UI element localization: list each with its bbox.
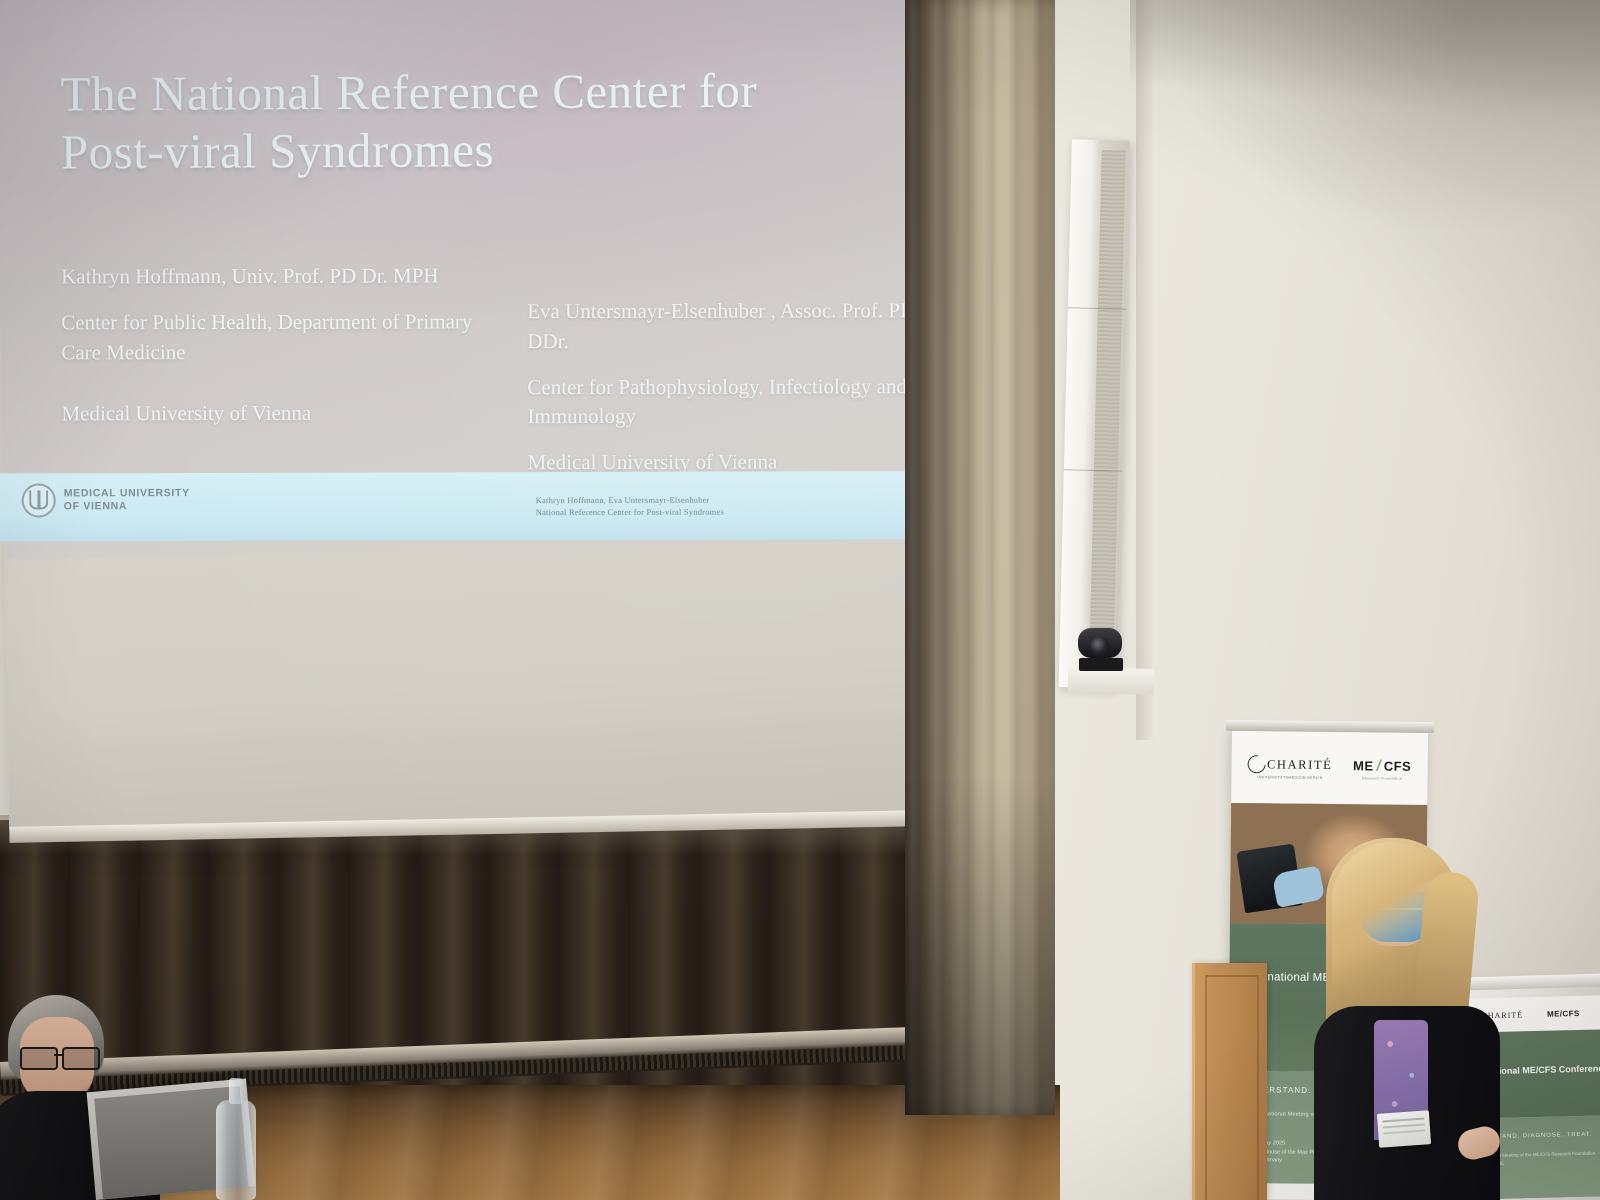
meduni-logo-text: MEDICAL UNIVERSITY OF VIENNA (64, 487, 190, 514)
speaker-at-podium (1308, 828, 1508, 1200)
lectern-mecfs-wordmark: ME/CFS (1547, 1008, 1580, 1018)
meduni-logo-icon (22, 483, 56, 517)
presentation-slide: The National Reference Center for Post-v… (0, 0, 946, 559)
glasses-left-lens (20, 1047, 58, 1070)
wooden-door-panel (1192, 963, 1267, 1200)
drape-shadow (905, 775, 1055, 1115)
mecfs-subtitle: Research Foundation (1362, 776, 1402, 780)
charite-ring-icon (1244, 752, 1269, 777)
charite-subtitle: UNIVERSITÄTSMEDIZIN BERLIN (1257, 775, 1322, 780)
door-inset (1205, 975, 1259, 1200)
side-drape (905, 0, 1055, 1115)
camera-head (1078, 628, 1122, 658)
meduni-logo-line2: OF VIENNA (64, 500, 190, 513)
meduni-vienna-logo: MEDICAL UNIVERSITY OF VIENNA (22, 483, 190, 517)
camera-mount (1079, 658, 1123, 671)
bottle-body (216, 1100, 256, 1200)
mecfs-logo: ME / CFS Research Foundation (1353, 757, 1411, 781)
water-bottle (214, 1078, 258, 1200)
footer-credit-line2: National Reference Center for Post-viral… (536, 506, 724, 519)
footer-credit-line1: Kathryn Hoffmann, Eva Untersmayr-Elsenhu… (536, 494, 724, 507)
screen-unlit-area (4, 542, 951, 829)
slide-footer-band: MEDICAL UNIVERSITY OF VIENNA Kathryn Hof… (0, 471, 942, 541)
slide-left-column: Kathryn Hoffmann, Univ. Prof. PD Dr. MPH… (61, 261, 513, 445)
mecfs-slash-icon: / (1375, 757, 1383, 774)
right-author: Eva Untersmayr-Elsenhuber , Assoc. Prof.… (527, 296, 917, 357)
glasses-right-lens (62, 1047, 100, 1070)
camera-lens-icon (1090, 637, 1110, 657)
wall-corner (1136, 0, 1158, 740)
eyeglasses-icon (18, 1047, 102, 1067)
slide-footer-credit: Kathryn Hoffmann, Eva Untersmayr-Elsenhu… (536, 494, 724, 519)
conference-hall-photo: The National Reference Center for Post-v… (0, 0, 1600, 1200)
ptz-camera (1073, 624, 1129, 672)
mecfs-cfs: CFS (1384, 758, 1412, 773)
slide-right-column: Eva Untersmayr-Elsenhuber , Assoc. Prof.… (527, 296, 918, 494)
meduni-logo-line1: MEDICAL UNIVERSITY (64, 487, 190, 500)
slide-title: The National Reference Center for Post-v… (60, 61, 861, 182)
charite-logo: CHARITÉ UNIVERSITÄTSMEDIZIN BERLIN (1248, 755, 1333, 780)
name-badge (1377, 1110, 1431, 1148)
left-university: Medical University of Vienna (61, 399, 513, 430)
projection-screen: The National Reference Center for Post-v… (0, 0, 971, 829)
ceiling-shadow (1130, 0, 1600, 120)
mecfs-me: ME (1353, 758, 1374, 773)
right-affiliation: Center for Pathophysiology, Infectiology… (527, 372, 917, 433)
left-affiliation: Center for Public Health, Department of … (61, 307, 513, 368)
banner-logo-strip: CHARITÉ UNIVERSITÄTSMEDIZIN BERLIN ME / … (1231, 731, 1428, 805)
charite-wordmark: CHARITÉ (1267, 757, 1333, 773)
left-author: Kathryn Hoffmann, Univ. Prof. PD Dr. MPH (61, 261, 513, 292)
